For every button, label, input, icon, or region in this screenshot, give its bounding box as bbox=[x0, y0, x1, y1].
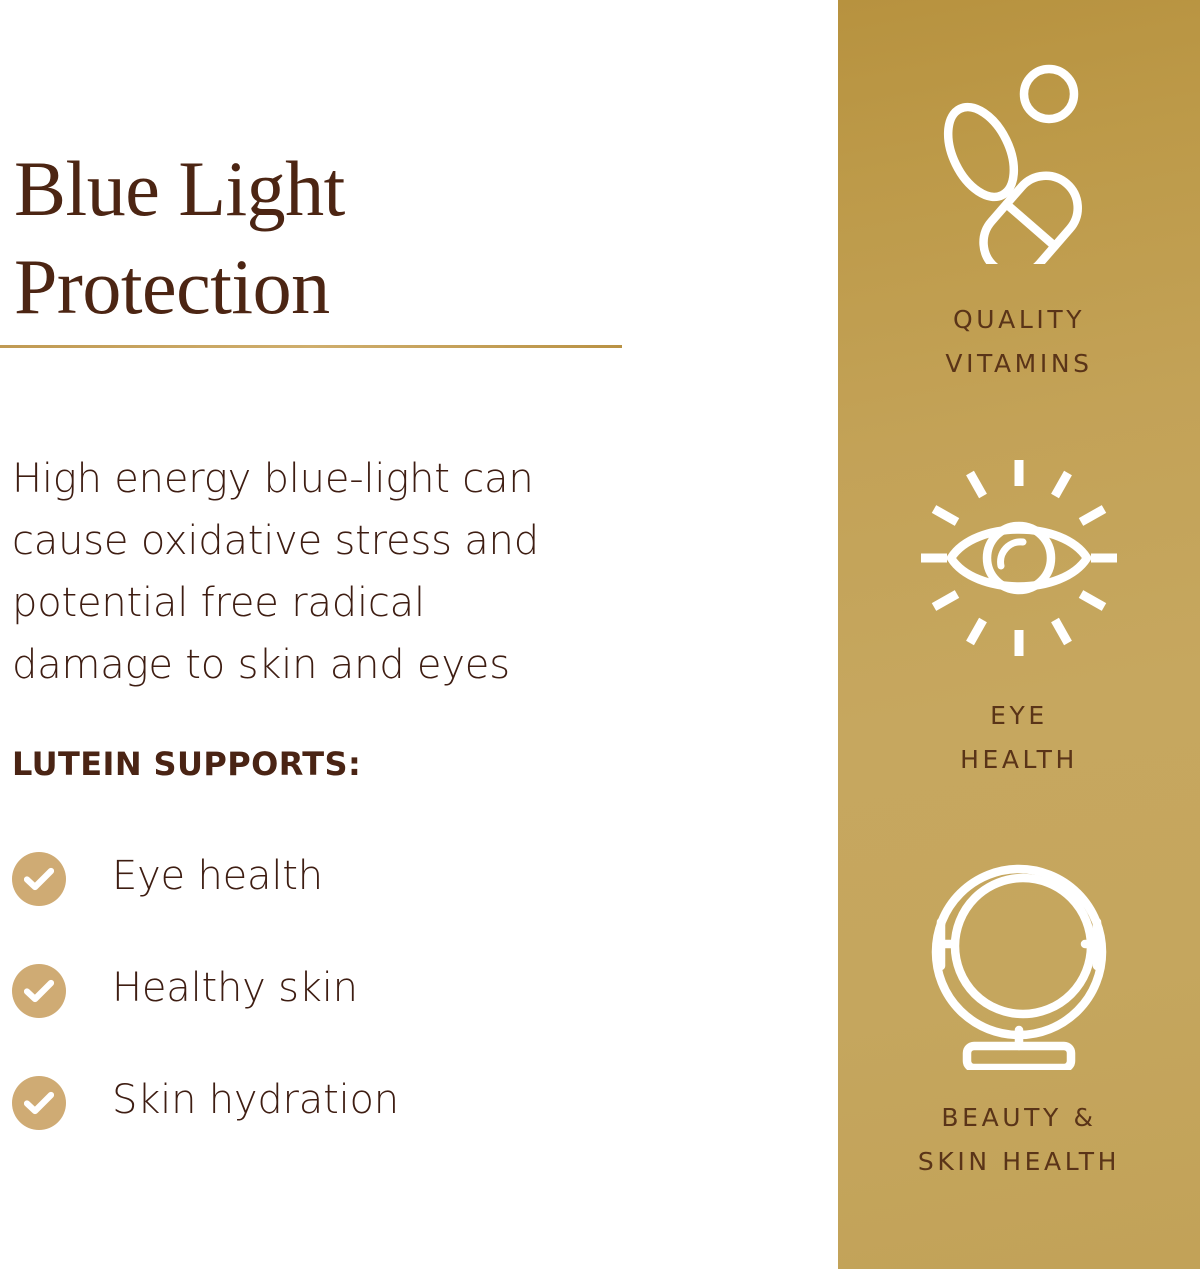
feature-label-quality-vitamins: QUALITY VITAMINS bbox=[838, 298, 1200, 386]
feature-label-line-2: HEALTH bbox=[838, 738, 1200, 782]
list-item-label: Skin hydration bbox=[112, 1074, 399, 1126]
list-item: Healthy skin bbox=[12, 964, 712, 1076]
page-title: Blue Light Protection bbox=[14, 140, 714, 336]
eye-rays-icon bbox=[838, 452, 1200, 664]
body-paragraph-line-3: potential free radical bbox=[12, 572, 672, 634]
check-icon bbox=[12, 852, 66, 906]
pills-icon bbox=[838, 58, 1200, 270]
page-title-line-1: Blue Light bbox=[14, 140, 714, 238]
feature-label-line-1: EYE bbox=[838, 694, 1200, 738]
list-item-label: Healthy skin bbox=[112, 962, 358, 1014]
body-paragraph-line-4: damage to skin and eyes bbox=[12, 634, 672, 696]
title-divider bbox=[0, 345, 622, 348]
feature-block-eye-health: EYE HEALTH bbox=[838, 452, 1200, 782]
left-content-panel: Blue Light Protection High energy blue-l… bbox=[0, 0, 838, 1269]
check-icon bbox=[12, 1076, 66, 1130]
feature-label-line-2: VITAMINS bbox=[838, 342, 1200, 386]
check-icon bbox=[12, 964, 66, 1018]
list-item: Eye health bbox=[12, 852, 712, 964]
feature-label-line-1: BEAUTY & bbox=[838, 1096, 1200, 1140]
body-paragraph: High energy blue-light can cause oxidati… bbox=[12, 448, 672, 696]
feature-label-line-1: QUALITY bbox=[838, 298, 1200, 342]
page-title-line-2: Protection bbox=[14, 238, 714, 336]
list-item: Skin hydration bbox=[12, 1076, 712, 1188]
feature-sidebar: QUALITY VITAMINS bbox=[838, 0, 1200, 1269]
feature-block-beauty-skin-health: BEAUTY & SKIN HEALTH bbox=[838, 856, 1200, 1184]
supports-heading: LUTEIN SUPPORTS: bbox=[12, 745, 361, 783]
feature-block-quality-vitamins: QUALITY VITAMINS bbox=[838, 58, 1200, 386]
feature-label-beauty-skin-health: BEAUTY & SKIN HEALTH bbox=[838, 1096, 1200, 1184]
body-paragraph-line-1: High energy blue-light can bbox=[12, 448, 672, 510]
list-item-label: Eye health bbox=[112, 850, 323, 902]
body-paragraph-line-2: cause oxidative stress and bbox=[12, 510, 672, 572]
feature-label-line-2: SKIN HEALTH bbox=[838, 1140, 1200, 1184]
benefit-list: Eye health Healthy skin Skin hydration bbox=[12, 852, 712, 1188]
vanity-mirror-icon bbox=[838, 856, 1200, 1072]
feature-label-eye-health: EYE HEALTH bbox=[838, 694, 1200, 782]
